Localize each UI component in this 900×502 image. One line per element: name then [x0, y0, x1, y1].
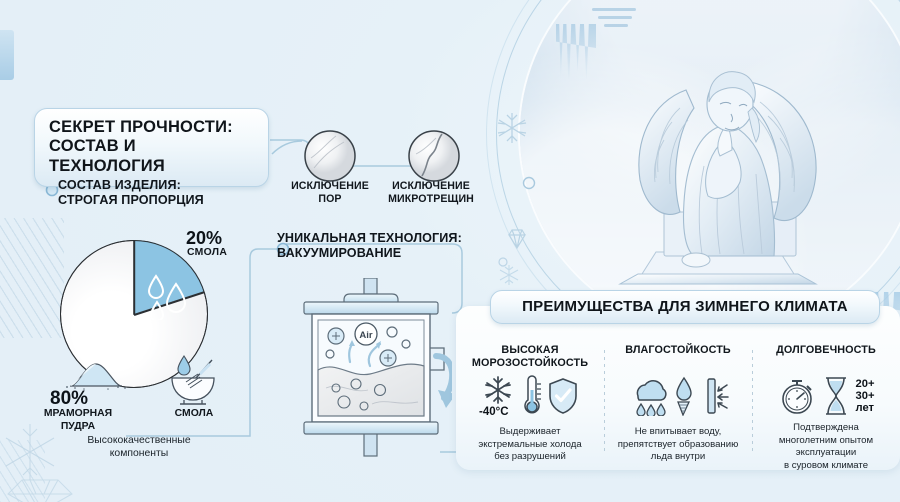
benefit-title-durability: ДОЛГОВЕЧНОСТЬ	[752, 344, 900, 357]
benefit-desc-durability-line2: многолетним опытом	[752, 435, 900, 448]
shield-check-icon	[547, 377, 579, 415]
years-line1: 20+	[856, 378, 875, 390]
benefit-column-moisture: ВЛАГОСТОЙКОСТЬ	[604, 306, 752, 470]
stopwatch-icon	[778, 376, 816, 416]
no-pores-label: ИСКЛЮЧЕНИЕ ПОР	[287, 180, 373, 205]
thermometer-icon	[520, 374, 542, 418]
quality-components-caption: Высококачественные компоненты	[46, 434, 232, 460]
marble-powder-icon	[60, 356, 132, 390]
page-title-line1: СЕКРЕТ ПРОЧНОСТИ:	[49, 118, 254, 137]
pie-radius-top	[133, 241, 135, 315]
page-title-line2: СОСТАВ И ТЕХНОЛОГИЯ	[49, 137, 254, 176]
powder-label-line2: ПУДРА	[26, 421, 130, 434]
hourglass-icon	[820, 375, 852, 417]
powder-label-line1: МРАМОРНАЯ	[26, 408, 130, 421]
benefit-desc-durability-line1: Подтверждена	[752, 422, 900, 435]
composition-heading-line1: СОСТАВ ИЗДЕЛИЯ:	[58, 178, 204, 193]
benefit-title-moisture: ВЛАГОСТОЙКОСТЬ	[604, 344, 752, 357]
page-title: СЕКРЕТ ПРОЧНОСТИ: СОСТАВ И ТЕХНОЛОГИЯ	[34, 108, 269, 187]
benefit-icons-frost: -40°C	[456, 372, 604, 420]
composition-heading: СОСТАВ ИЗДЕЛИЯ: СТРОГАЯ ПРОПОРЦИЯ	[58, 178, 204, 208]
benefit-desc-frost-line3: без разрушений	[456, 451, 604, 464]
benefits-panel: ВЫСОКАЯ МОРОЗОСТОЙКОСТЬ -40°C	[456, 306, 900, 470]
air-label: Air	[359, 330, 373, 341]
temperature-badge: -40°C	[479, 406, 509, 418]
benefit-icons-durability: 20+ 30+ лет	[752, 372, 900, 420]
benefit-desc-durability: Подтверждена многолетним опытом эксплуат…	[752, 422, 900, 473]
technology-heading: УНИКАЛЬНАЯ ТЕХНОЛОГИЯ: ВАКУУМИРОВАНИЕ	[277, 231, 462, 261]
years-line2: 30+	[856, 390, 875, 402]
droplet-icicle-icon	[674, 376, 694, 416]
no-pores-marble-icon	[302, 128, 358, 184]
quality-line2: компоненты	[46, 447, 232, 460]
crack-label-line1: ИСКЛЮЧЕНИЕ	[381, 180, 481, 193]
snowflake-icon	[481, 374, 515, 406]
vacuum-chamber-diagram: Air	[292, 278, 452, 458]
barrier-arrows-icon	[699, 376, 729, 416]
technology-heading-line2: ВАКУУМИРОВАНИЕ	[277, 246, 462, 261]
resin-name-label: СМОЛА	[187, 247, 227, 258]
pore-label-line2: ПОР	[287, 193, 373, 206]
benefit-column-durability: ДОЛГОВЕЧНОСТЬ	[752, 306, 900, 470]
benefit-title-frost-line2: МОРОЗОСТОЙКОСТЬ	[456, 357, 604, 370]
infographic-canvas: СЕКРЕТ ПРОЧНОСТИ: СОСТАВ И ТЕХНОЛОГИЯ СО…	[0, 0, 900, 502]
benefits-title: ПРЕИМУЩЕСТВА ДЛЯ ЗИМНЕГО КЛИМАТА	[490, 290, 880, 324]
crack-label-line2: МИКРОТРЕЩИН	[381, 193, 481, 206]
composition-heading-line2: СТРОГАЯ ПРОПОРЦИЯ	[58, 193, 204, 208]
benefit-desc-moisture-line1: Не впитывает воду,	[604, 426, 752, 439]
durability-years-badge: 20+ 30+ лет	[856, 378, 875, 414]
no-microcracks-marble-icon	[406, 128, 462, 184]
resin-bowl-icon	[162, 352, 224, 406]
powder-percent-label: 80%	[50, 388, 88, 410]
quality-line1: Высококачественные	[46, 434, 232, 447]
benefit-desc-moisture-line2: препятствует образованию	[604, 439, 752, 452]
benefit-desc-moisture-line3: льда внутри	[604, 451, 752, 464]
benefit-title-frost-line1: ВЫСОКАЯ	[456, 344, 604, 357]
benefit-desc-durability-line4: в суровом климате	[752, 460, 900, 473]
benefit-column-frost: ВЫСОКАЯ МОРОЗОСТОЙКОСТЬ -40°C	[456, 306, 604, 470]
benefit-title-durability-line1: ДОЛГОВЕЧНОСТЬ	[752, 344, 900, 357]
benefit-desc-frost-line2: экстремальные холода	[456, 439, 604, 452]
years-line3: лет	[856, 402, 875, 414]
technology-heading-line1: УНИКАЛЬНАЯ ТЕХНОЛОГИЯ:	[277, 231, 462, 246]
resin-bowl-label: СМОЛА	[152, 408, 236, 419]
benefit-desc-frost: Выдерживает экстремальные холода без раз…	[456, 426, 604, 464]
benefit-icons-moisture	[604, 372, 752, 420]
benefit-desc-moisture: Не впитывает воду, препятствует образова…	[604, 426, 752, 464]
benefit-desc-durability-line3: эксплуатации	[752, 447, 900, 460]
powder-name-label: МРАМОРНАЯ ПУДРА	[26, 408, 130, 433]
resin-percent-label: 20%	[186, 228, 222, 249]
pore-label-line1: ИСКЛЮЧЕНИЕ	[287, 180, 373, 193]
benefit-title-frost: ВЫСОКАЯ МОРОЗОСТОЙКОСТЬ	[456, 344, 604, 370]
no-microcracks-label: ИСКЛЮЧЕНИЕ МИКРОТРЕЩИН	[381, 180, 481, 205]
water-droplets-icon	[142, 268, 194, 320]
benefit-desc-frost-line1: Выдерживает	[456, 426, 604, 439]
rain-cloud-icon	[627, 376, 669, 416]
benefit-title-moisture-line1: ВЛАГОСТОЙКОСТЬ	[604, 344, 752, 357]
